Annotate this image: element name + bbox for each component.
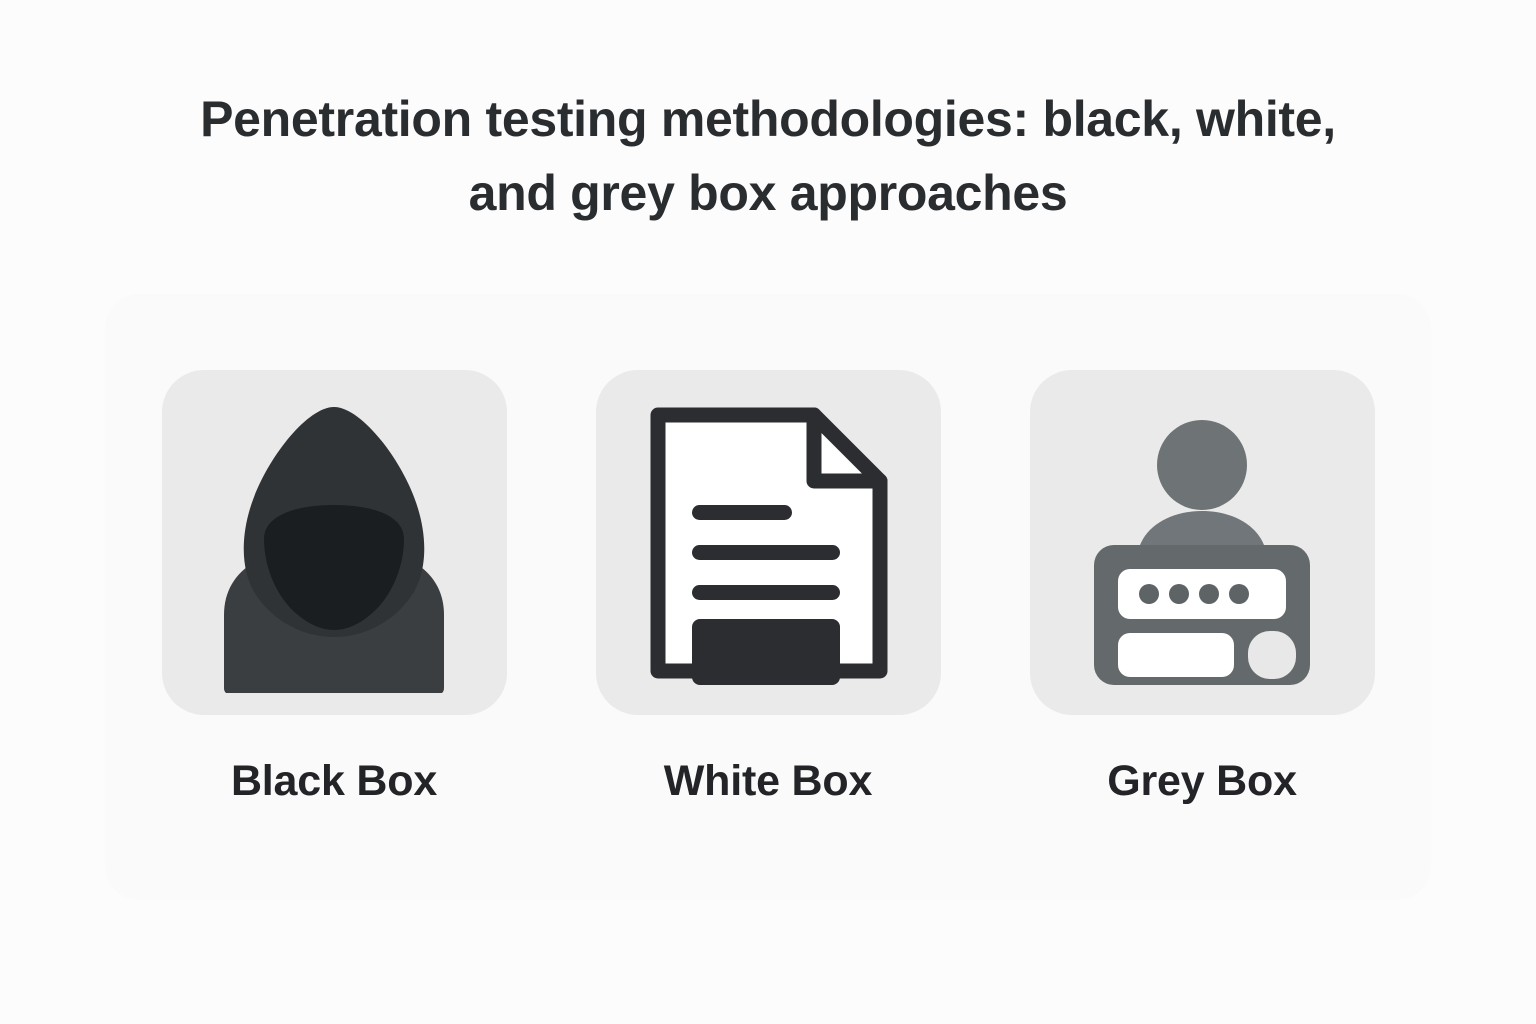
document-line-3: [692, 585, 840, 600]
password-dot: [1139, 584, 1159, 604]
method-white-box[interactable]: White Box: [594, 370, 942, 806]
username-field: [1118, 633, 1234, 677]
document-line-1: [692, 505, 792, 520]
methods-card: Black Box: [105, 294, 1431, 900]
document-with-lines-icon: [618, 393, 918, 693]
method-icon-tile-grey-box: [1030, 370, 1375, 715]
password-dot: [1229, 584, 1249, 604]
hooded-hacker-icon: [184, 393, 484, 693]
page-title: Penetration testing methodologies: black…: [200, 82, 1336, 230]
method-label-black-box: Black Box: [231, 757, 437, 806]
infographic-page: Penetration testing methodologies: black…: [0, 0, 1536, 1024]
method-icon-tile-black-box: [162, 370, 507, 715]
password-dot: [1199, 584, 1219, 604]
person-head: [1157, 420, 1247, 510]
method-label-white-box: White Box: [664, 757, 872, 806]
method-icon-tile-white-box: [596, 370, 941, 715]
password-dot: [1169, 584, 1189, 604]
method-black-box[interactable]: Black Box: [160, 370, 508, 806]
user-credentials-card-icon: [1052, 393, 1352, 693]
method-label-grey-box: Grey Box: [1107, 757, 1297, 806]
methods-row: Black Box: [105, 294, 1431, 900]
document-line-2: [692, 545, 840, 560]
submit-button: [1248, 631, 1296, 679]
document-block: [692, 619, 840, 685]
method-grey-box[interactable]: Grey Box: [1028, 370, 1376, 806]
